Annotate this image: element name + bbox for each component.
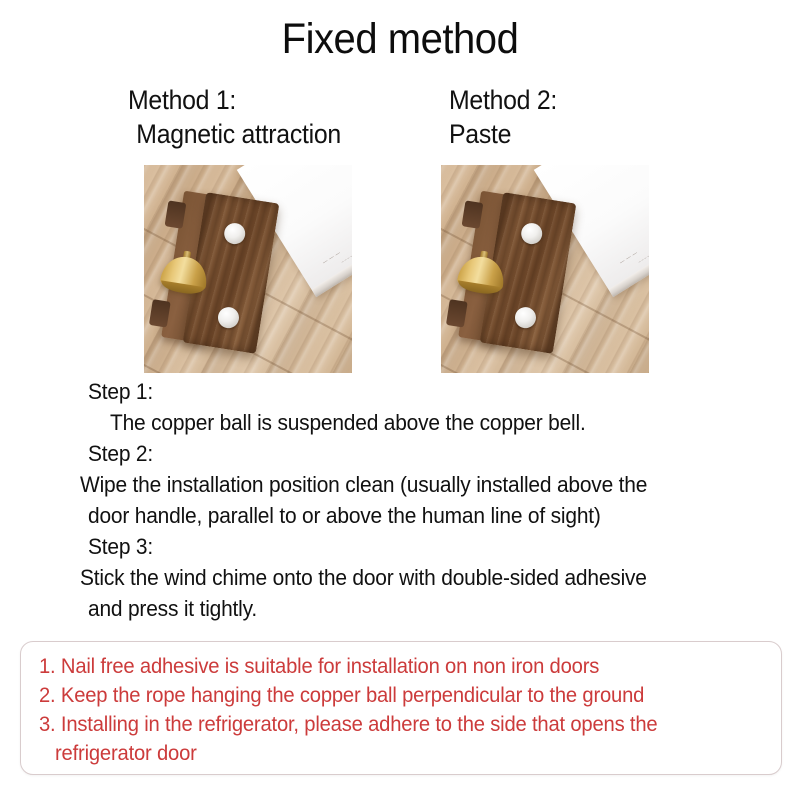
brass-bell [159,248,211,295]
step-3-line-2: and press it tightly. [88,593,743,624]
method-2-name: Paste [449,118,557,151]
magnet-disc [520,222,544,246]
book-edge [608,165,649,297]
book-text: — — — [322,250,342,266]
step-3-line-1: Stick the wind chime onto the door with … [80,562,742,593]
method-1-photo: — — — · · · –––– [144,165,352,373]
method-2-heading: Method 2: Paste [449,84,557,151]
instruction-graphic: Fixed method Method 1: Magnetic attracti… [0,0,800,800]
method-2-label: Method 2: [449,85,557,115]
bracket-slot [149,299,171,327]
notice-line-1: 1. Nail free adhesive is suitable for in… [39,652,723,681]
notice-line-2: 2. Keep the rope hanging the copper ball… [39,681,723,710]
magnet-disc [223,222,247,246]
method-1-name: Magnetic attraction [136,118,341,151]
bell-body [456,254,507,295]
step-2-label: Step 2: [88,438,743,469]
notice-line-4: refrigerator door [55,739,724,768]
book-edge [311,165,352,297]
step-1-line-1: The copper ball is suspended above the c… [110,407,744,438]
bracket-slot [165,200,187,228]
notice-line-3: 3. Installing in the refrigerator, pleas… [39,710,723,739]
steps-list: Step 1: The copper ball is suspended abo… [62,376,792,624]
brass-bell [456,248,508,295]
method-1-label: Method 1: [128,85,236,115]
magnet-disc [513,306,537,330]
notice-box: 1. Nail free adhesive is suitable for in… [20,641,782,775]
page-title: Fixed method [28,14,772,64]
method-1-heading: Method 1: Magnetic attraction [128,84,341,151]
bracket-slot [446,299,468,327]
magnet-disc [216,306,240,330]
step-1-label: Step 1: [88,376,743,407]
method-2-photo: — — — · · · –––– [441,165,649,373]
step-2-line-2: door handle, parallel to or above the hu… [88,500,743,531]
book-text: — — — [619,250,639,266]
step-2-line-1: Wipe the installation position clean (us… [80,469,742,500]
bracket-slot [462,200,484,228]
step-3-label: Step 3: [88,531,743,562]
bell-body [159,254,210,295]
